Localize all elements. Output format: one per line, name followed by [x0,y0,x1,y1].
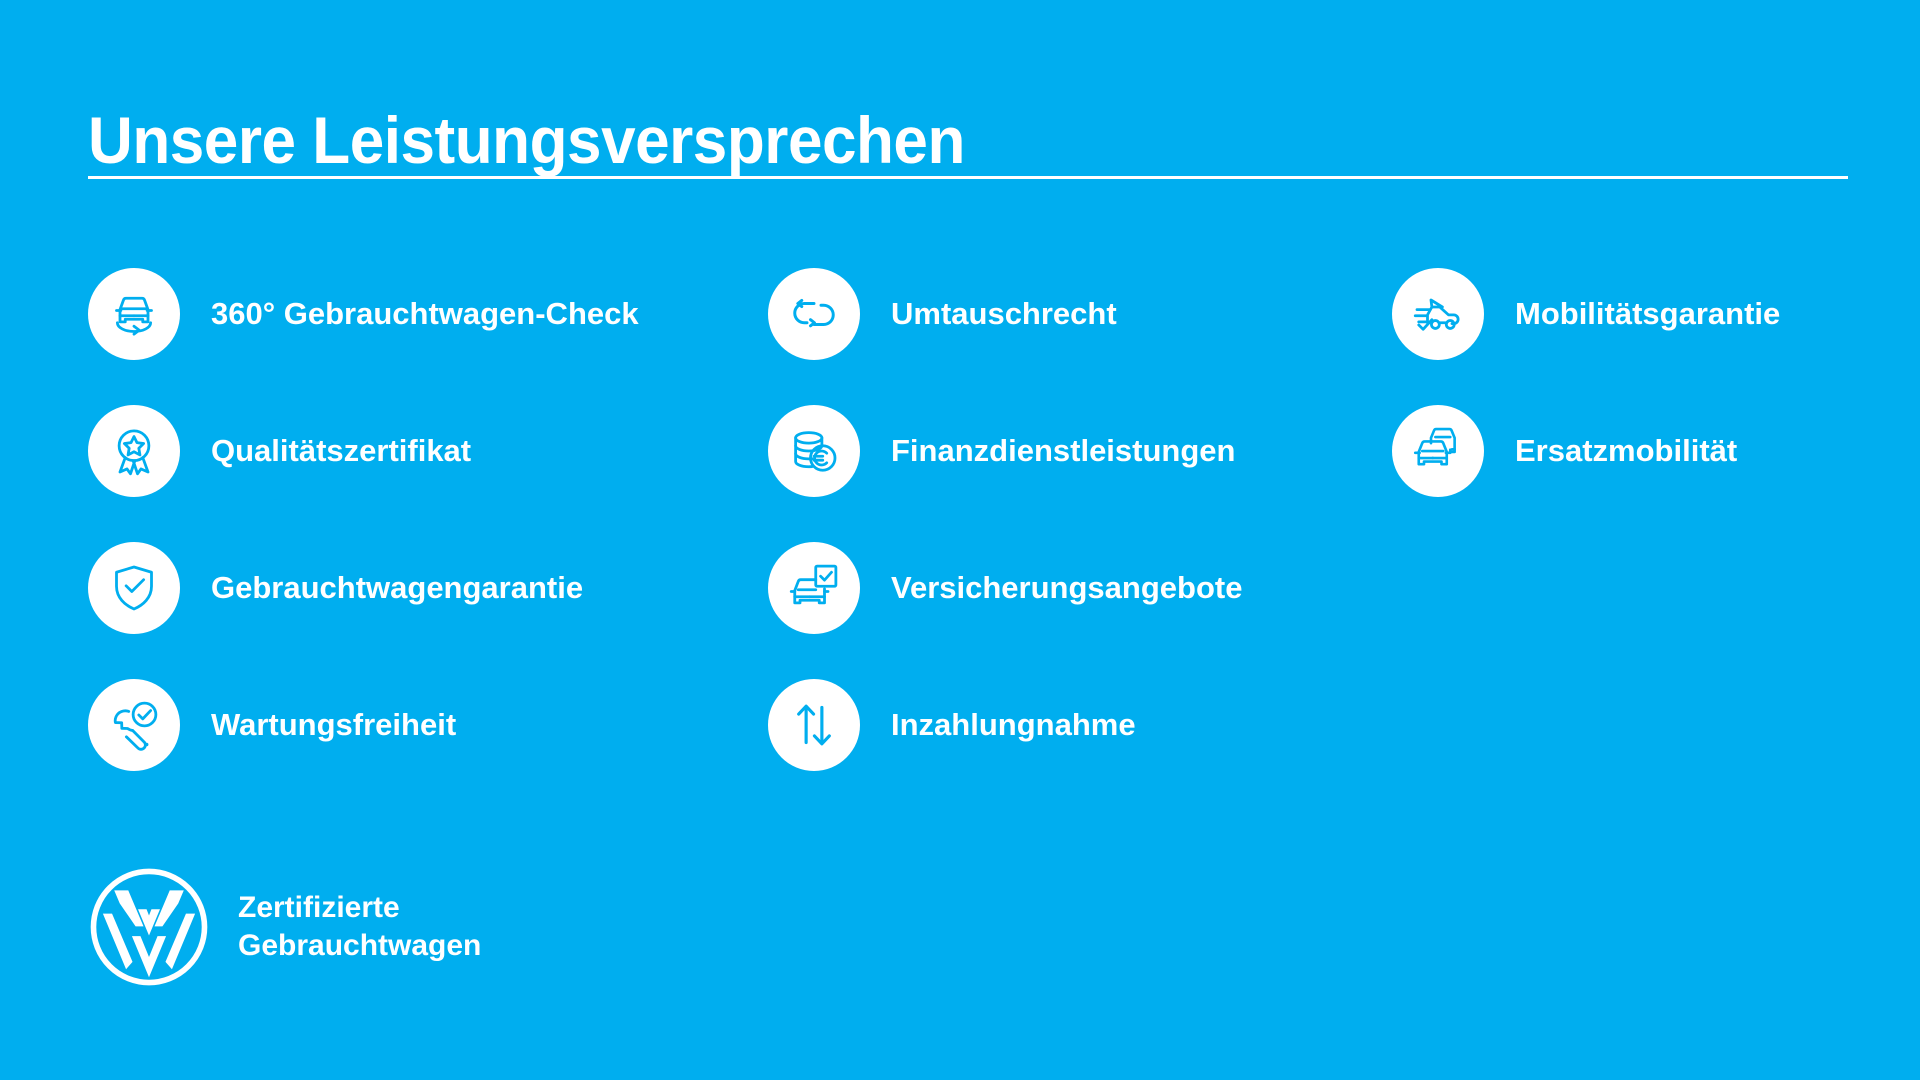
promise-slide: Unsere Leistungsversprechen 360° Ge [0,0,1920,1080]
car-speed-check-icon [1392,268,1484,360]
promise-label: Inzahlungnahme [891,705,1136,745]
exchange-arrows-icon [768,268,860,360]
car-360-check-icon [88,268,180,360]
volkswagen-logo-icon [88,866,210,988]
shield-check-icon [88,542,180,634]
promise-label: Qualitätszertifikat [211,431,471,471]
car-checkbox-icon [768,542,860,634]
brand-line-2: Gebrauchtwagen [238,927,481,965]
promise-item[interactable]: Gebrauchtwagengarantie [88,542,748,679]
coins-euro-icon [768,405,860,497]
promise-item[interactable]: Versicherungsangebote [768,542,1388,679]
promise-column-3: Mobilitätsgarantie Ersatzmobilitä [1392,268,1912,542]
award-rosette-icon [88,405,180,497]
two-cars-icon [1392,405,1484,497]
promise-label: Ersatzmobilität [1515,431,1737,471]
promise-label: Mobilitätsgarantie [1515,294,1780,334]
arrows-up-down-icon [768,679,860,771]
brand-text: Zertifizierte Gebrauchtwagen [238,889,481,965]
promise-label: Umtauschrecht [891,294,1117,334]
wrench-check-icon [88,679,180,771]
promise-item[interactable]: Finanzdienstleistungen [768,405,1388,542]
promise-item[interactable]: Inzahlungnahme [768,679,1388,816]
promise-label: Versicherungsangebote [891,568,1242,608]
promise-column-1: 360° Gebrauchtwagen-Check Qualitätszerti… [88,268,748,816]
promise-item[interactable]: Qualitätszertifikat [88,405,748,542]
promise-item[interactable]: Mobilitätsgarantie [1392,268,1912,405]
promise-label: Gebrauchtwagengarantie [211,568,583,608]
promise-column-2: Umtauschrecht Finanzdienstleistungen [768,268,1388,816]
promise-item[interactable]: Wartungsfreiheit [88,679,748,816]
promise-label: 360° Gebrauchtwagen-Check [211,294,639,334]
brand-line-1: Zertifizierte [238,889,481,927]
promise-item[interactable]: Ersatzmobilität [1392,405,1912,542]
promise-item[interactable]: Umtauschrecht [768,268,1388,405]
promise-label: Finanzdienstleistungen [891,431,1235,471]
promise-item[interactable]: 360° Gebrauchtwagen-Check [88,268,748,405]
brand-lockup: Zertifizierte Gebrauchtwagen [88,866,481,988]
promise-label: Wartungsfreiheit [211,705,456,745]
